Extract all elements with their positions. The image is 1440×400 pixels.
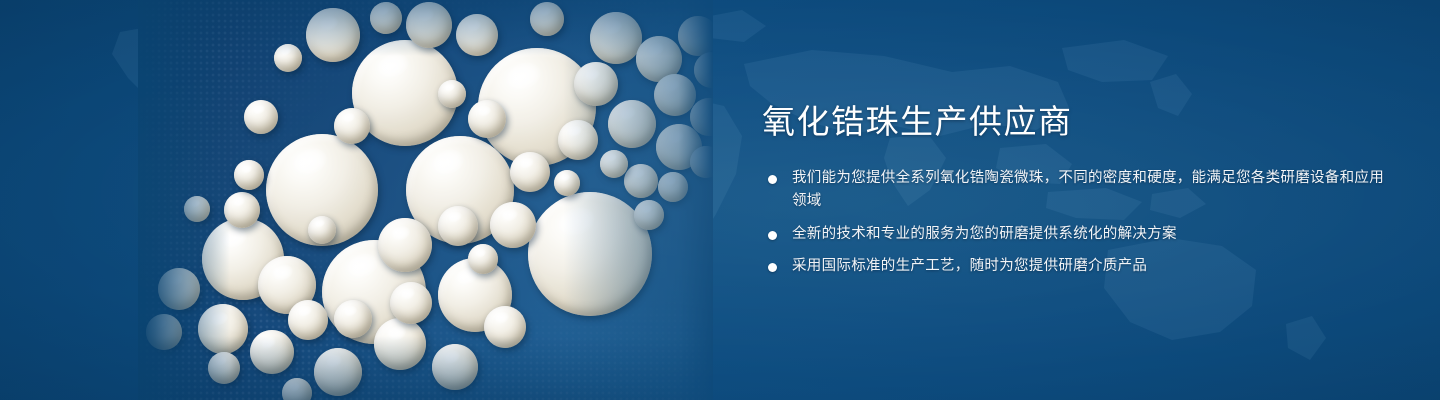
feature-text: 我们能为您提供全系列氧化锆陶瓷微珠，不同的密度和硬度，能满足您各类研磨设备和应用… [792,170,1384,209]
banner-headline: 氧化锆珠生产供应商 [762,104,1392,141]
banner-content: 氧化锆珠生产供应商 我们能为您提供全系列氧化锆陶瓷微珠，不同的密度和硬度，能满足… [762,104,1392,279]
bullet-dot-icon [768,263,777,272]
hero-banner: 氧化锆珠生产供应商 我们能为您提供全系列氧化锆陶瓷微珠，不同的密度和硬度，能满足… [0,0,1440,400]
feature-list: 我们能为您提供全系列氧化锆陶瓷微珠，不同的密度和硬度，能满足您各类研磨设备和应用… [762,167,1392,279]
feature-list-item: 我们能为您提供全系列氧化锆陶瓷微珠，不同的密度和硬度，能满足您各类研磨设备和应用… [762,167,1392,214]
photo-edge-feather [138,0,713,400]
feature-text: 采用国际标准的生产工艺，随时为您提供研磨介质产品 [792,258,1147,274]
bullet-dot-icon [768,231,777,240]
feature-list-item: 全新的技术和专业的服务为您的研磨提供系统化的解决方案 [762,223,1392,246]
feature-text: 全新的技术和专业的服务为您的研磨提供系统化的解决方案 [792,226,1177,242]
feature-list-item: 采用国际标准的生产工艺，随时为您提供研磨介质产品 [762,255,1392,278]
bullet-dot-icon [768,175,777,184]
product-photo-panel [138,0,713,400]
